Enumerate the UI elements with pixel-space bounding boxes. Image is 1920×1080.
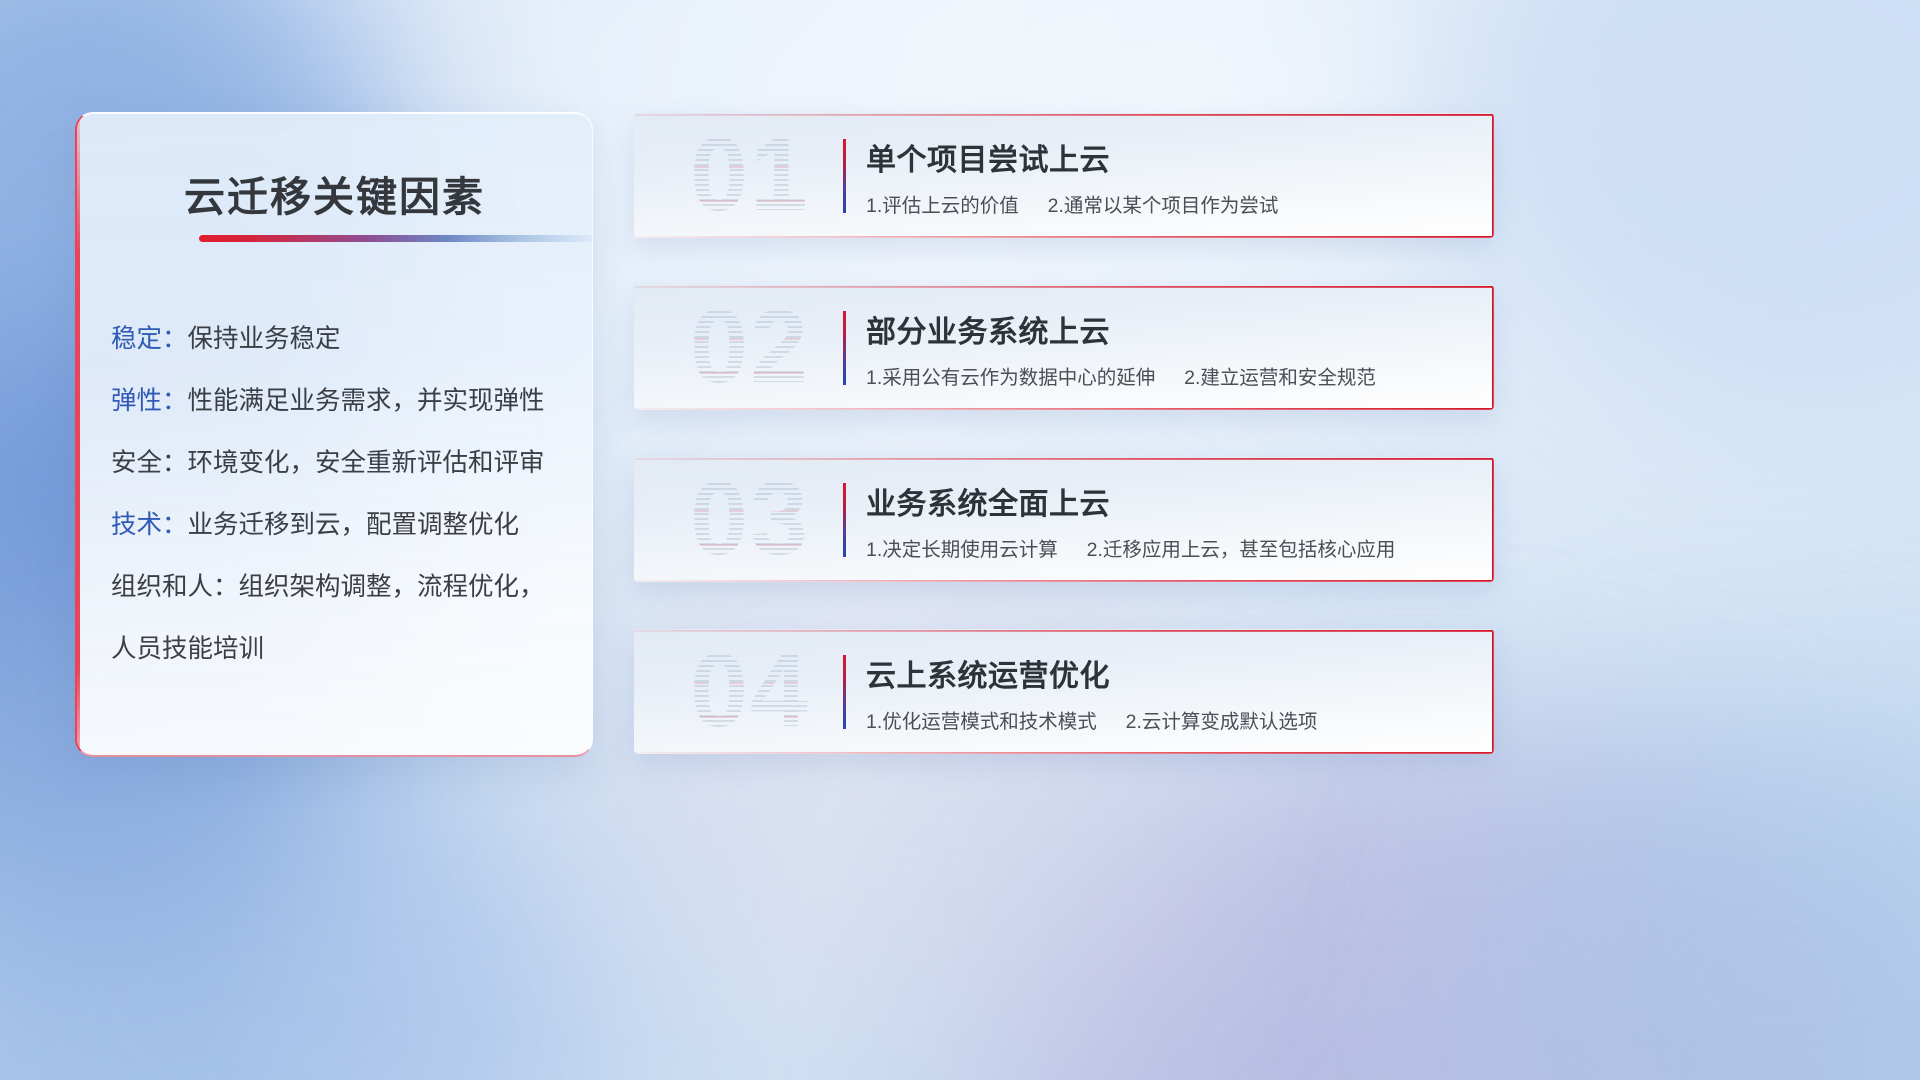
step-card-01[interactable]: 01 01 单个项目尝试上云 1.评估上云的价值 2.通常以某个项目作为尝试 xyxy=(634,113,1494,238)
card-divider-bar xyxy=(843,655,846,729)
card-divider-bar xyxy=(843,483,846,557)
step-point-2: 2.通常以某个项目作为尝试 xyxy=(1048,195,1279,217)
step-point-1: 1.评估上云的价值 xyxy=(866,195,1019,217)
step-card-04[interactable]: 04 04 云上系统运营优化 1.优化运营模式和技术模式 2.云计算变成默认选项 xyxy=(634,629,1494,754)
step-points: 1.评估上云的价值 2.通常以某个项目作为尝试 xyxy=(866,189,1278,218)
list-item-label: 技术： xyxy=(111,513,188,539)
key-factors-panel: 云迁移关键因素 稳定： 保持业务稳定 弹性： 性能满足业务需求，并实现弹性 安全… xyxy=(75,112,593,757)
step-point-2: 2.云计算变成默认选项 xyxy=(1126,711,1318,733)
list-item: 人员技能培训 xyxy=(111,619,566,681)
list-item-text: 保持业务稳定 xyxy=(188,327,341,353)
list-item-text: 人员技能培训 xyxy=(111,637,264,663)
step-point-1: 1.决定长期使用云计算 xyxy=(866,539,1058,561)
title-underline-accent xyxy=(199,235,593,242)
step-card-02[interactable]: 02 02 部分业务系统上云 1.采用公有云作为数据中心的延伸 2.建立运营和安… xyxy=(634,285,1494,410)
list-item-label: 安全： xyxy=(111,451,188,477)
list-item-label: 弹性： xyxy=(111,389,188,415)
step-points: 1.采用公有云作为数据中心的延伸 2.建立运营和安全规范 xyxy=(866,361,1376,390)
list-item-text: 性能满足业务需求，并实现弹性 xyxy=(188,389,545,415)
step-points: 1.优化运营模式和技术模式 2.云计算变成默认选项 xyxy=(866,705,1317,734)
list-item: 安全： 环境变化，安全重新评估和评审 xyxy=(111,433,566,495)
step-number-watermark-tint: 01 xyxy=(660,119,840,231)
list-item-text: 环境变化，安全重新评估和评审 xyxy=(188,451,545,477)
step-point-2: 2.建立运营和安全规范 xyxy=(1184,367,1376,389)
step-point-2: 2.迁移应用上云，甚至包括核心应用 xyxy=(1087,539,1396,561)
list-item-label: 组织和人： xyxy=(111,575,239,601)
card-divider-bar xyxy=(843,139,846,213)
card-divider-bar xyxy=(843,311,846,385)
list-item: 技术： 业务迁移到云，配置调整优化 xyxy=(111,495,566,557)
list-item-label: 稳定： xyxy=(111,327,188,353)
list-item: 弹性： 性能满足业务需求，并实现弹性 xyxy=(111,371,566,433)
list-item: 组织和人： 组织架构调整，流程优化， xyxy=(111,557,566,619)
page-title: 云迁移关键因素 xyxy=(77,163,592,223)
list-item: 稳定： 保持业务稳定 xyxy=(111,309,566,371)
step-title: 云上系统运营优化 xyxy=(866,651,1110,695)
step-title: 单个项目尝试上云 xyxy=(866,135,1110,179)
step-card-03[interactable]: 03 03 业务系统全面上云 1.决定长期使用云计算 2.迁移应用上云，甚至包括… xyxy=(634,457,1494,582)
step-number-watermark-tint: 02 xyxy=(660,291,840,403)
step-number-watermark-tint: 03 xyxy=(660,463,840,575)
step-number-watermark-tint: 04 xyxy=(660,635,840,747)
step-points: 1.决定长期使用云计算 2.迁移应用上云，甚至包括核心应用 xyxy=(866,533,1395,562)
key-factors-list: 稳定： 保持业务稳定 弹性： 性能满足业务需求，并实现弹性 安全： 环境变化，安… xyxy=(111,309,566,681)
step-title: 业务系统全面上云 xyxy=(866,479,1110,523)
step-point-1: 1.优化运营模式和技术模式 xyxy=(866,711,1097,733)
step-title: 部分业务系统上云 xyxy=(866,307,1110,351)
list-item-text: 组织架构调整，流程优化， xyxy=(239,575,545,601)
list-item-text: 业务迁移到云，配置调整优化 xyxy=(188,513,520,539)
step-point-1: 1.采用公有云作为数据中心的延伸 xyxy=(866,367,1155,389)
